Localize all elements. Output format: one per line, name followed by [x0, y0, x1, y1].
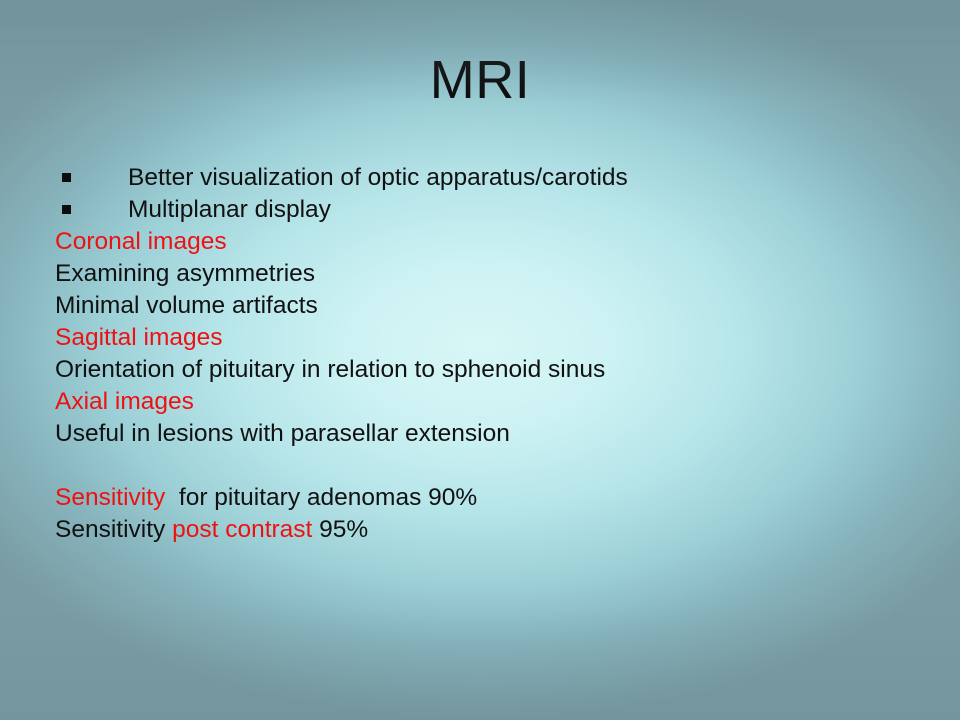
heading-sagittal-images: Sagittal images [55, 322, 915, 354]
heading-coronal-images: Coronal images [55, 226, 915, 258]
text-segment: Orientation of pituitary in relation to … [55, 356, 605, 383]
text-useful-in-lesions: Useful in lesions with parasellar extens… [55, 418, 915, 450]
text-segment: post contrast [172, 516, 312, 543]
heading-axial-images: Axial images [55, 386, 915, 418]
text-segment: Coronal images [55, 228, 227, 255]
text-segment: Examining asymmetries [55, 260, 315, 287]
text-segment: Multiplanar display [128, 196, 331, 223]
square-bullet-icon [62, 205, 71, 214]
text-examining-asymmetries: Examining asymmetries [55, 258, 915, 290]
text-segment: Axial images [55, 388, 194, 415]
slide-canvas: MRI Better visualization of optic appara… [0, 0, 960, 720]
text-segment: Better visualization of optic apparatus/… [128, 164, 628, 191]
text-segment: for pituitary adenomas 90% [165, 484, 477, 511]
text-segment: Minimal volume artifacts [55, 292, 318, 319]
slide-body: Better visualization of optic apparatus/… [55, 162, 915, 546]
text-segment: Sensitivity [55, 484, 165, 511]
bullet-better-visualization: Better visualization of optic apparatus/… [55, 162, 915, 194]
text-segment: Useful in lesions with parasellar extens… [55, 420, 510, 447]
text-sensitivity-adenomas: Sensitivity for pituitary adenomas 90% [55, 482, 915, 514]
text-minimal-volume-artifacts: Minimal volume artifacts [55, 290, 915, 322]
blank-spacer [55, 450, 915, 482]
text-segment: Sagittal images [55, 324, 223, 351]
text-sensitivity-post-contrast: Sensitivity post contrast 95% [55, 514, 915, 546]
square-bullet-icon [62, 173, 71, 182]
text-segment: 95% [312, 516, 368, 543]
slide-title: MRI [0, 48, 960, 112]
text-orientation-of-pituitary: Orientation of pituitary in relation to … [55, 354, 915, 386]
bullet-multiplanar-display: Multiplanar display [55, 194, 915, 226]
text-segment: Sensitivity [55, 516, 172, 543]
